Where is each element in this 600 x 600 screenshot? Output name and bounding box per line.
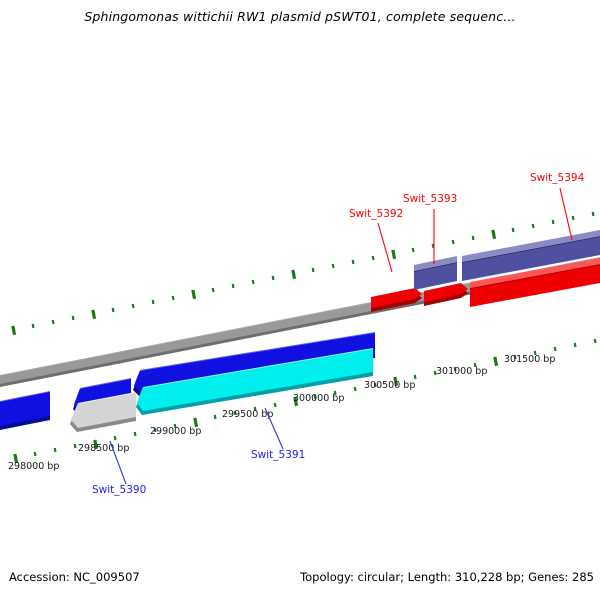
genome-viewer-window: Sphingomonas wittichii RW1 plasmid pSWT0… — [0, 0, 600, 600]
gene-bar-purple-left[interactable] — [414, 256, 457, 290]
gene-label-swit-5391[interactable]: Swit_5391 — [251, 449, 305, 461]
leader-line-swit-5394 — [560, 188, 572, 240]
gene-label-swit-5390[interactable]: Swit_5390 — [92, 484, 146, 496]
bp-label: 298500 bp — [78, 443, 129, 454]
page-title: Sphingomonas wittichii RW1 plasmid pSWT0… — [84, 9, 515, 24]
bp-label: 298000 bp — [8, 461, 59, 472]
accession-label: Accession: NC_009507 — [9, 570, 140, 584]
genome-arc-svg[interactable]: 298000 bp 298500 bp 299000 bp 299500 bp … — [0, 40, 600, 555]
gene-label-swit-5394[interactable]: Swit_5394 — [530, 172, 585, 184]
gene-label-swit-5393[interactable]: Swit_5393 — [403, 193, 457, 205]
title-bar: Sphingomonas wittichii RW1 plasmid pSWT0… — [0, 8, 600, 26]
bp-label: 300000 bp — [293, 393, 344, 404]
bp-label: 301500 bp — [504, 354, 555, 365]
bp-label: 299000 bp — [150, 426, 201, 437]
topology-label: Topology: circular; Length: 310,228 bp; … — [300, 570, 594, 584]
gene-label-swit-5392[interactable]: Swit_5392 — [349, 208, 403, 220]
leader-line-swit-5392 — [378, 223, 392, 272]
leader-line-swit-5391 — [265, 408, 283, 449]
gene-leader-lines — [110, 188, 572, 484]
bp-label: 300500 bp — [364, 380, 415, 391]
gene-labels[interactable]: Swit_5390 Swit_5391 Swit_5392 Swit_5393 … — [92, 172, 585, 496]
genome-track-canvas[interactable]: 298000 bp 298500 bp 299000 bp 299500 bp … — [0, 40, 600, 555]
bp-label: 301000 bp — [436, 366, 487, 377]
status-bar: Accession: NC_009507 Topology: circular;… — [0, 558, 600, 600]
gene-bar-blue-left-partial[interactable] — [0, 391, 50, 430]
